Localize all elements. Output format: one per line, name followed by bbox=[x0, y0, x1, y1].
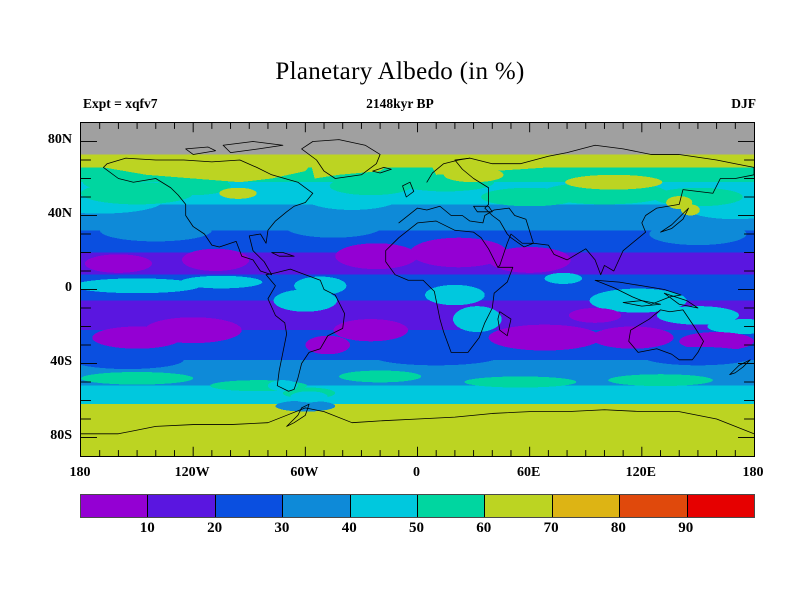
x-tick-label: 60W bbox=[290, 465, 318, 481]
x-tick-label: 120W bbox=[175, 465, 210, 481]
colorbar-swatch[interactable] bbox=[282, 495, 349, 517]
albedo-figure: Planetary Albedo (in %) 2148kyr BP Expt … bbox=[0, 0, 800, 600]
colorbar-swatch[interactable] bbox=[484, 495, 551, 517]
y-tick-label: 40N bbox=[48, 206, 72, 222]
y-tick-label: 80N bbox=[48, 132, 72, 148]
x-tick-label: 0 bbox=[413, 465, 420, 481]
colorbar-tick-label: 60 bbox=[476, 520, 491, 537]
albedo-field bbox=[81, 123, 754, 456]
colorbar-tick-label: 80 bbox=[611, 520, 626, 537]
x-tick-label: 180 bbox=[70, 465, 91, 481]
colorbar-swatch[interactable] bbox=[215, 495, 282, 517]
map-plot-area bbox=[80, 122, 755, 457]
colorbar-tick-label: 10 bbox=[140, 520, 155, 537]
colorbar-tick-label: 70 bbox=[544, 520, 559, 537]
colorbar-swatch[interactable] bbox=[147, 495, 214, 517]
colorbar-swatch[interactable] bbox=[619, 495, 686, 517]
colorbar-swatch[interactable] bbox=[81, 495, 147, 517]
albedo-map bbox=[81, 123, 754, 456]
x-tick-label: 60E bbox=[517, 465, 540, 481]
colorbar-tick-label: 20 bbox=[207, 520, 222, 537]
colorbar-tick-label: 50 bbox=[409, 520, 424, 537]
colorbar-swatch[interactable] bbox=[687, 495, 754, 517]
colorbar-swatch[interactable] bbox=[552, 495, 619, 517]
season-label: DJF bbox=[731, 96, 756, 112]
colorbar-tick-label: 90 bbox=[678, 520, 693, 537]
y-tick-label: 40S bbox=[50, 354, 72, 370]
y-tick-label: 80S bbox=[50, 428, 72, 444]
colorbar-swatch[interactable] bbox=[350, 495, 417, 517]
x-tick-label: 120E bbox=[626, 465, 656, 481]
colorbar-tick-label: 30 bbox=[274, 520, 289, 537]
colorbar[interactable] bbox=[80, 494, 755, 518]
page-title: Planetary Albedo (in %) bbox=[0, 58, 800, 86]
colorbar-tick-label: 40 bbox=[342, 520, 357, 537]
colorbar-swatch[interactable] bbox=[417, 495, 484, 517]
x-tick-label: 180 bbox=[743, 465, 764, 481]
experiment-label: Expt = xqfv7 bbox=[83, 96, 157, 112]
y-tick-label: 0 bbox=[65, 280, 72, 296]
